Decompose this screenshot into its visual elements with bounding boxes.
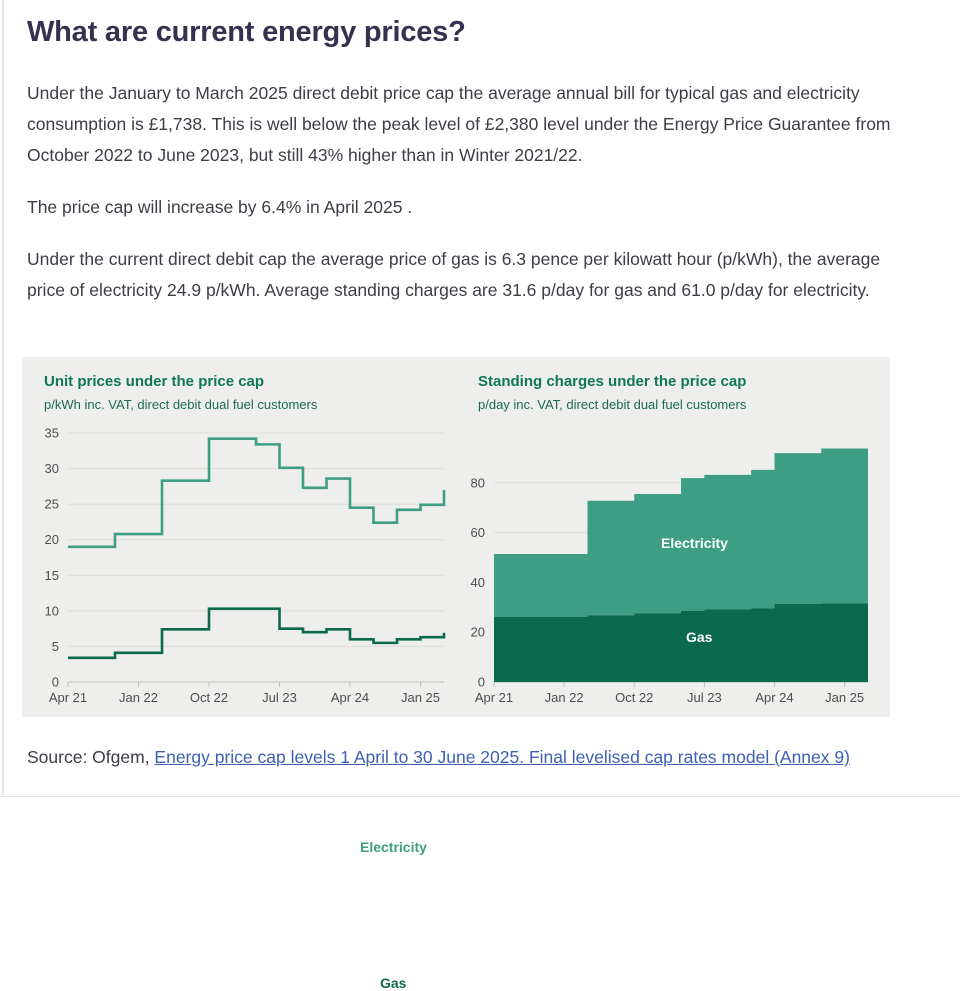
svg-text:0: 0 [478, 675, 485, 690]
svg-text:Apr 21: Apr 21 [475, 690, 513, 705]
paragraph-3: Under the current direct debit cap the a… [0, 223, 960, 306]
svg-text:30: 30 [45, 461, 59, 476]
article-body: What are current energy prices? Under th… [0, 0, 960, 306]
svg-text:20: 20 [45, 532, 59, 547]
svg-text:25: 25 [45, 497, 59, 512]
svg-text:Jan 25: Jan 25 [401, 690, 440, 705]
chart-unit-prices: Unit prices under the price cap p/kWh in… [22, 357, 456, 717]
svg-text:Jul 23: Jul 23 [687, 690, 722, 705]
svg-text:35: 35 [45, 426, 59, 441]
svg-text:40: 40 [471, 575, 485, 590]
svg-text:20: 20 [471, 625, 485, 640]
svg-text:Jan 22: Jan 22 [545, 690, 584, 705]
svg-text:Apr 24: Apr 24 [331, 690, 369, 705]
svg-text:10: 10 [45, 603, 59, 618]
svg-text:60: 60 [471, 525, 485, 540]
svg-text:Oct 22: Oct 22 [615, 690, 653, 705]
svg-text:5: 5 [52, 639, 59, 654]
unit-prices-plot: 05101520253035Apr 21Jan 22Oct 22Jul 23Ap… [22, 357, 456, 717]
svg-text:80: 80 [471, 475, 485, 490]
series-label-gas-right: Gas [686, 629, 712, 645]
svg-text:0: 0 [52, 675, 59, 690]
paragraph-1: Under the January to March 2025 direct d… [0, 52, 960, 171]
svg-text:Apr 21: Apr 21 [49, 690, 87, 705]
charts-panel: Unit prices under the price cap p/kWh in… [22, 357, 890, 717]
source-citation: Source: Ofgem, Energy price cap levels 1… [27, 742, 927, 773]
svg-text:Jan 25: Jan 25 [825, 690, 864, 705]
chart-standing-charges: Standing charges under the price cap p/d… [456, 357, 890, 717]
paragraph-2: The price cap will increase by 6.4% in A… [0, 171, 960, 223]
source-prefix: Source: Ofgem, [27, 747, 154, 767]
svg-text:Jul 23: Jul 23 [262, 690, 297, 705]
svg-text:Jan 22: Jan 22 [119, 690, 158, 705]
page-title: What are current energy prices? [0, 0, 960, 52]
series-label-gas-left: Gas [380, 975, 406, 991]
source-link[interactable]: Energy price cap levels 1 April to 30 Ju… [154, 747, 850, 767]
svg-text:Apr 24: Apr 24 [755, 690, 793, 705]
series-label-electricity-right: Electricity [661, 535, 728, 551]
series-label-electricity-left: Electricity [360, 839, 427, 855]
svg-text:15: 15 [45, 568, 59, 583]
svg-text:Oct 22: Oct 22 [190, 690, 228, 705]
